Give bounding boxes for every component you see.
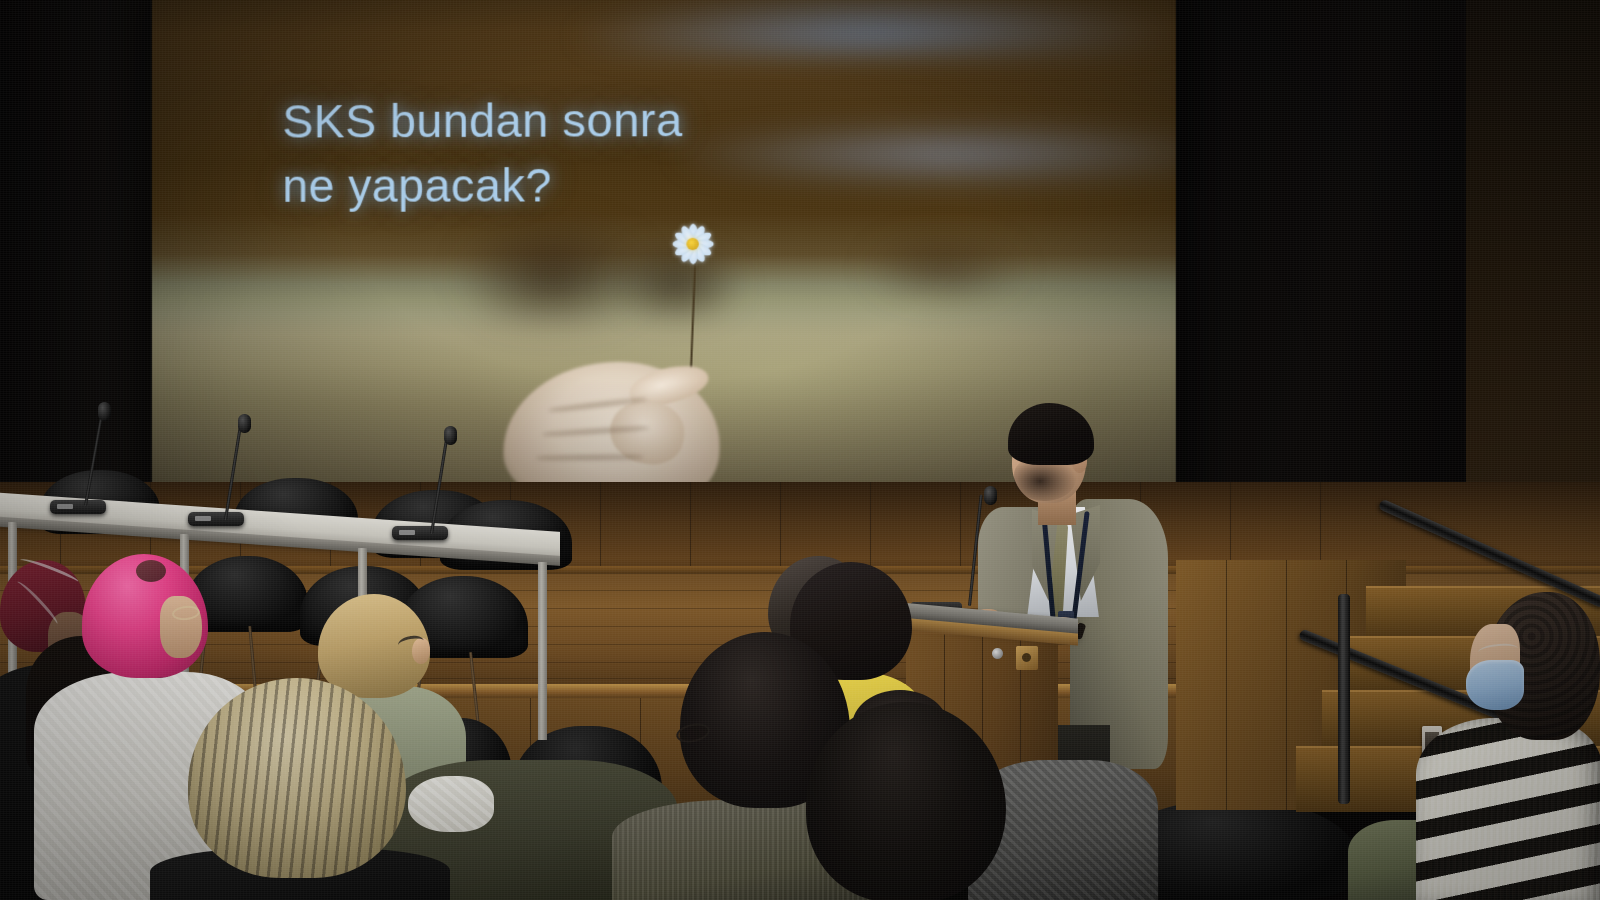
mic-label-plate	[399, 530, 415, 535]
person-masked-striped-body	[1416, 718, 1600, 900]
slide-line-1: SKS bundan sonra	[282, 87, 815, 154]
podium-brass-plate	[1016, 646, 1038, 670]
mic-capsule-icon	[444, 426, 457, 445]
table-leg	[538, 562, 547, 740]
presenter-hair	[1008, 403, 1094, 465]
panel-microphone	[50, 500, 106, 514]
panel-microphone	[188, 512, 244, 526]
wall-right	[1466, 0, 1600, 560]
person-pink-hair-face	[160, 596, 202, 658]
handrail-post	[1338, 594, 1350, 804]
surgical-mask	[1466, 660, 1524, 710]
podium-mic-capsule-icon	[984, 486, 997, 505]
mic-label-plate	[57, 504, 73, 509]
slide-title-text: SKS bundan sonra ne yapacak?	[282, 87, 815, 219]
knit-texture	[1416, 718, 1600, 900]
dark-roots	[136, 560, 166, 582]
auditorium-photo: SKS bundan sonra ne yapacak?	[0, 0, 1600, 900]
panel-microphone	[392, 526, 448, 540]
mic-label-plate	[195, 516, 211, 521]
slide-line-2: ne yapacak?	[282, 152, 815, 218]
white-scarf	[408, 776, 494, 832]
curtain-left	[0, 0, 158, 520]
curtain-right	[1140, 0, 1470, 520]
podium-knob	[992, 648, 1003, 659]
mic-capsule-icon	[238, 414, 251, 433]
mic-capsule-icon	[98, 402, 111, 421]
